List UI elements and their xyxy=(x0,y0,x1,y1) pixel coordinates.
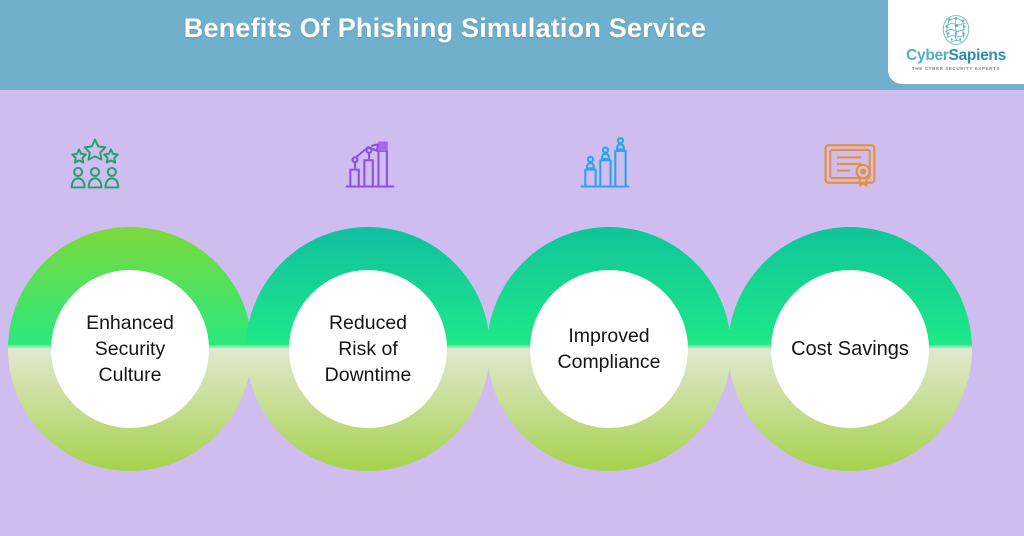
benefit-label-2: Improved Compliance xyxy=(552,323,667,375)
benefit-label-1: Reduced Risk of Downtime xyxy=(319,310,418,388)
benefit-icon-2 xyxy=(573,132,637,196)
benefit-card-2: Improved Compliance xyxy=(487,227,731,471)
cyber-brain-network-icon xyxy=(939,13,973,47)
logo-name-part2: Sapiens xyxy=(949,47,1006,64)
logo-name-part1: Cyber xyxy=(906,47,948,64)
benefit-label-wrap-1: Reduced Risk of Downtime xyxy=(289,270,447,428)
benefit-card-3: Cost Savings xyxy=(728,227,972,471)
benefit-label-wrap-2: Improved Compliance xyxy=(530,270,688,428)
benefit-label-3: Cost Savings xyxy=(785,336,915,362)
benefit-label-wrap-3: Cost Savings xyxy=(771,270,929,428)
benefit-icon-0 xyxy=(63,132,127,196)
header-band: Benefits Of Phishing Simulation Service xyxy=(0,0,1024,90)
stars-and-people-rating-icon xyxy=(65,134,125,194)
certificate-award-icon xyxy=(820,134,880,194)
page-title: Benefits Of Phishing Simulation Service xyxy=(0,10,890,47)
benefit-label-0: Enhanced Security Culture xyxy=(80,310,180,388)
logo-tagline: THE CYBER SECURITY EXPERTS xyxy=(912,66,1000,71)
logo-wordmark: CyberSapiens xyxy=(906,48,1006,64)
growth-bar-chart-arrow-icon xyxy=(340,134,400,194)
benefit-card-1: Reduced Risk of Downtime xyxy=(246,227,490,471)
benefit-icon-1 xyxy=(338,132,402,196)
benefit-label-wrap-0: Enhanced Security Culture xyxy=(51,270,209,428)
infographic-canvas: Benefits Of Phishing Simulation Service … xyxy=(0,0,1024,536)
brand-logo: CyberSapiens THE CYBER SECURITY EXPERTS xyxy=(888,0,1024,84)
benefit-card-0: Enhanced Security Culture xyxy=(8,227,252,471)
people-on-bar-chart-icon xyxy=(575,134,635,194)
benefit-icon-3 xyxy=(818,132,882,196)
